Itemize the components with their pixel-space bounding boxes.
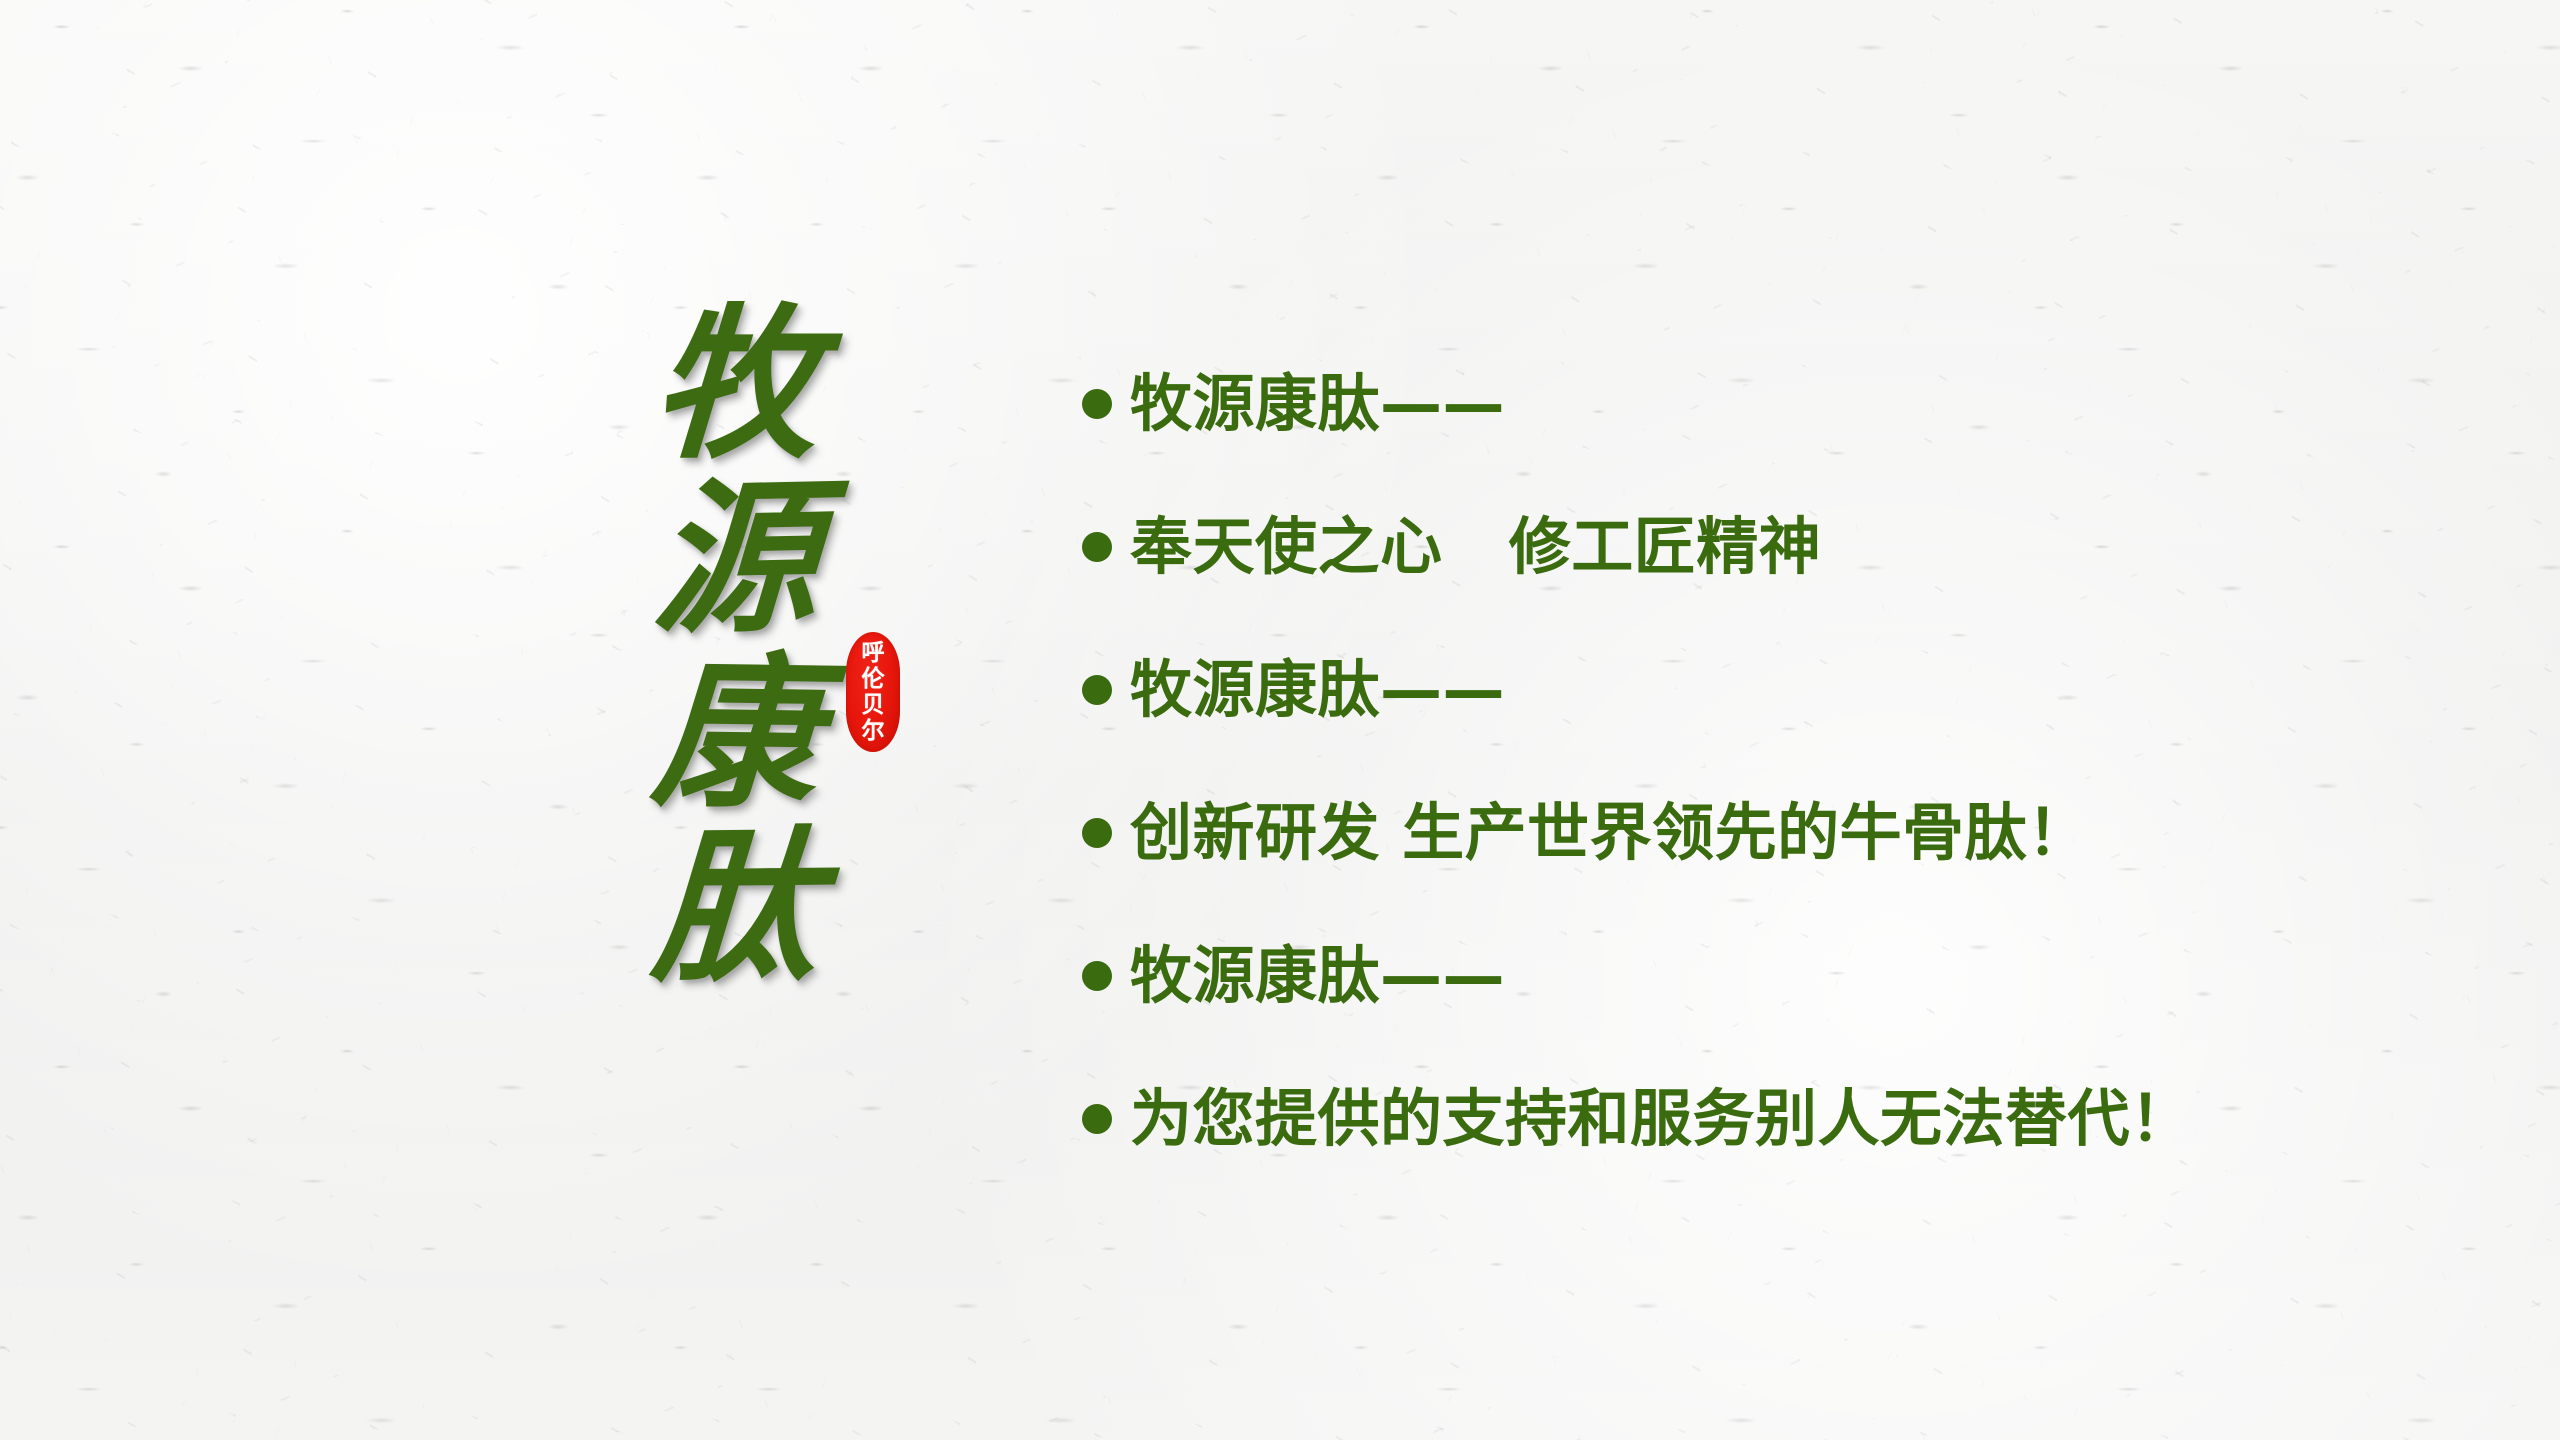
bullet-row: 牧源康肽—— xyxy=(1082,618,2482,761)
bullet-row: 牧源康肽—— xyxy=(1082,332,2482,475)
seal-char-1: 呼 xyxy=(862,640,885,666)
slogan-bullet-list: 牧源康肽—— 奉天使之心 修工匠精神 牧源康肽—— 创新研发 生产世界领先的牛骨… xyxy=(1082,332,2482,1190)
bullet-row: 牧源康肽—— xyxy=(1082,904,2482,1047)
seal-char-2: 伦 xyxy=(862,666,885,692)
calligraphy-char-2: 源 xyxy=(648,473,821,645)
bullet-dot-icon xyxy=(1082,961,1112,991)
bullet-dot-icon xyxy=(1082,818,1112,848)
calligraphy-title: 牧 源 康 肽 xyxy=(630,300,840,997)
bullet-text: 创新研发 生产世界领先的牛骨肽！ xyxy=(1130,802,2090,864)
bullet-text: 牧源康肽—— xyxy=(1130,945,1505,1007)
bullet-row: 奉天使之心 修工匠精神 xyxy=(1082,475,2482,618)
bullet-text: 牧源康肽—— xyxy=(1130,659,1505,721)
bullet-dot-icon xyxy=(1082,675,1112,705)
seal-char-4: 尔 xyxy=(862,718,885,744)
calligraphy-char-3: 康 xyxy=(648,647,823,818)
calligraphy-char-1: 牧 xyxy=(648,300,822,468)
bullet-row: 为您提供的支持和服务别人无法替代！ xyxy=(1082,1047,2482,1190)
bullet-dot-icon xyxy=(1082,389,1112,419)
bullet-dot-icon xyxy=(1082,1104,1112,1134)
seal-char-3: 贝 xyxy=(862,692,885,718)
seal-stamp-icon: 呼 伦 贝 尔 xyxy=(846,632,900,752)
bullet-row: 创新研发 生产世界领先的牛骨肽！ xyxy=(1082,761,2482,904)
slide-canvas: 牧 源 康 肽 呼 伦 贝 尔 牧源康肽—— 奉天使之心 修工匠精神 牧源康肽—… xyxy=(0,0,2560,1440)
bullet-text: 牧源康肽—— xyxy=(1130,373,1505,435)
calligraphy-char-4: 肽 xyxy=(648,822,822,992)
bullet-text: 奉天使之心 修工匠精神 xyxy=(1130,516,1821,578)
bullet-dot-icon xyxy=(1082,532,1112,562)
bullet-text: 为您提供的支持和服务别人无法替代！ xyxy=(1130,1088,2193,1150)
